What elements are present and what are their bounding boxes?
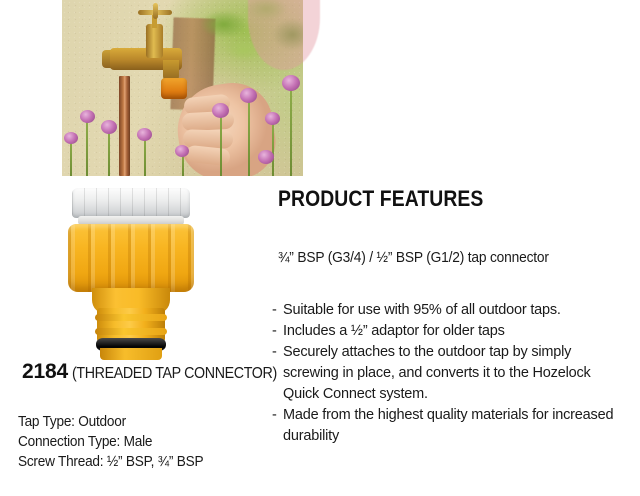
chive-flower (137, 128, 152, 141)
chive-flower (175, 145, 189, 157)
flower-stem (144, 136, 146, 176)
spec-tap-type: Tap Type: Outdoor (18, 412, 253, 432)
model-name: (THREADED TAP CONNECTOR) (72, 365, 277, 383)
chive-flower (258, 150, 274, 164)
orange-connector-in-photo (161, 78, 187, 99)
bullet-dash: - (272, 342, 283, 405)
list-item: - Suitable for use with 95% of all outdo… (272, 300, 618, 321)
model-number: 2184 (22, 360, 68, 383)
spec-screw-thread: Screw Thread: ½” BSP, ¾” BSP (18, 452, 253, 472)
product-tip (100, 348, 162, 360)
flower-stem (86, 118, 88, 176)
list-item-text: Suitable for use with 95% of all outdoor… (283, 300, 618, 321)
copper-pipe-icon (119, 76, 130, 176)
chive-flower (101, 120, 117, 134)
bullet-dash: - (272, 300, 283, 321)
product-white-collar (72, 188, 190, 218)
chive-flower (80, 110, 95, 123)
chive-flower (240, 88, 257, 103)
tap-handle-vertical (153, 3, 158, 19)
list-item: - Securely attaches to the outdoor tap b… (272, 342, 618, 405)
product-rib (95, 314, 167, 321)
product-specs: Tap Type: Outdoor Connection Type: Male … (18, 412, 268, 472)
product-rib (95, 328, 167, 335)
chive-flower (64, 132, 78, 144)
spec-connection-type: Connection Type: Male (18, 432, 253, 452)
feature-intro-line: ¾” BSP (G3/4) / ½” BSP (G1/2) tap connec… (278, 250, 549, 266)
product-image (66, 188, 196, 360)
flower-stem (108, 128, 110, 176)
list-item: - Includes a ½” adaptor for older taps (272, 321, 618, 342)
flower-stem (70, 140, 72, 176)
list-item: - Made from the highest quality material… (272, 405, 618, 447)
model-line: 2184(THREADED TAP CONNECTOR) (22, 360, 295, 384)
chive-flower (265, 112, 280, 125)
list-item-text: Includes a ½” adaptor for older taps (283, 321, 618, 342)
brass-tap-riser (146, 24, 163, 58)
chive-flower (282, 75, 300, 91)
list-item-text: Made from the highest quality materials … (283, 405, 618, 447)
flower-stem (272, 120, 274, 176)
product-features-heading: PRODUCT FEATURES (278, 186, 483, 212)
flower-stem (290, 84, 292, 176)
product-yellow-nut (68, 224, 194, 292)
list-item-text: Securely attaches to the outdoor tap by … (283, 342, 618, 405)
chive-flower (212, 103, 229, 118)
feature-list: - Suitable for use with 95% of all outdo… (272, 300, 618, 447)
flower-stem (220, 112, 222, 176)
flower-stem (248, 96, 250, 176)
bullet-dash: - (272, 405, 283, 447)
bullet-dash: - (272, 321, 283, 342)
